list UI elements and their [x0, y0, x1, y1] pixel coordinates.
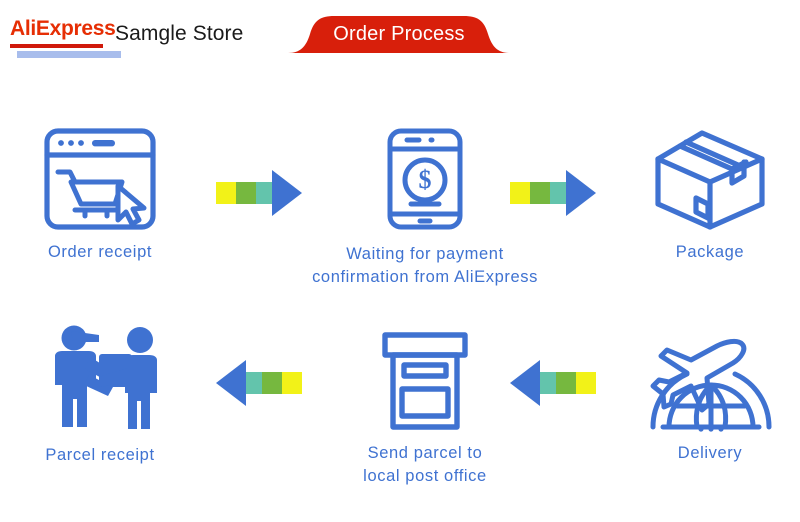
page-header: AliExpress Samgle Store Order Process: [0, 0, 800, 66]
arrow-4-left: [510, 360, 596, 406]
step-order-receipt: Order receipt: [0, 126, 200, 264]
browser-cart-cursor-icon: [0, 126, 200, 231]
step-label-order-receipt: Order receipt: [0, 241, 200, 264]
package-box-icon: [610, 126, 800, 231]
step-send-parcel: Send parcel to local post office: [310, 326, 540, 488]
brand-blue-underline: [17, 51, 121, 58]
step-label-delivery: Delivery: [610, 442, 800, 465]
brand-red-underline: [10, 44, 103, 48]
aliexpress-brand[interactable]: AliExpress: [10, 18, 110, 40]
step-package: Package: [610, 126, 800, 264]
step-label-package: Package: [610, 241, 800, 264]
svg-text:$: $: [419, 165, 432, 194]
arrow-3-left: [216, 360, 302, 406]
arrow-2-right: [510, 170, 596, 216]
post-box-icon: [310, 326, 540, 434]
step-label-waiting-payment: Waiting for payment confirmation from Al…: [290, 243, 560, 289]
step-parcel-receipt: Parcel receipt: [0, 322, 200, 467]
order-process-ribbon: Order Process: [288, 16, 510, 53]
step-delivery: Delivery: [610, 326, 800, 465]
step-label-send-parcel: Send parcel to local post office: [310, 442, 540, 488]
store-name: Samgle Store: [115, 22, 243, 46]
courier-handover-icon: [0, 322, 200, 434]
step-label-parcel-receipt: Parcel receipt: [0, 444, 200, 467]
ribbon-title: Order Process: [288, 16, 510, 53]
airplane-globe-icon: [610, 326, 800, 434]
brand-text: AliExpress: [10, 18, 110, 40]
